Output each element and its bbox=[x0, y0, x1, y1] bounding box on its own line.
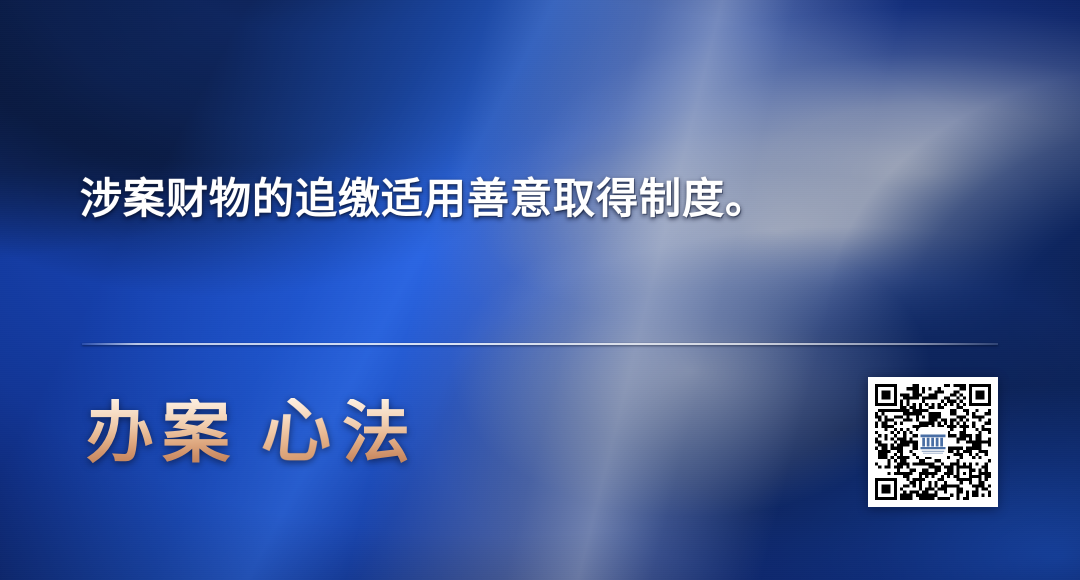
brand-char-1: 办 bbox=[86, 399, 156, 467]
institution-emblem-icon bbox=[918, 427, 948, 457]
brand-char-2: 案 bbox=[162, 399, 232, 467]
promo-banner: 涉案财物的追缴适用善意取得制度。 办 案 心 法 bbox=[0, 0, 1080, 580]
qr-code[interactable] bbox=[868, 377, 998, 507]
brand-char-4: 法 bbox=[342, 399, 412, 467]
brand-char-3: 心 bbox=[259, 398, 337, 468]
horizontal-divider bbox=[82, 343, 998, 345]
qr-center-logo bbox=[918, 427, 948, 457]
brand-logo: 办 案 心 法 bbox=[86, 398, 412, 468]
qr-canvas bbox=[875, 384, 991, 500]
headline-text: 涉案财物的追缴适用善意取得制度。 bbox=[80, 176, 960, 226]
